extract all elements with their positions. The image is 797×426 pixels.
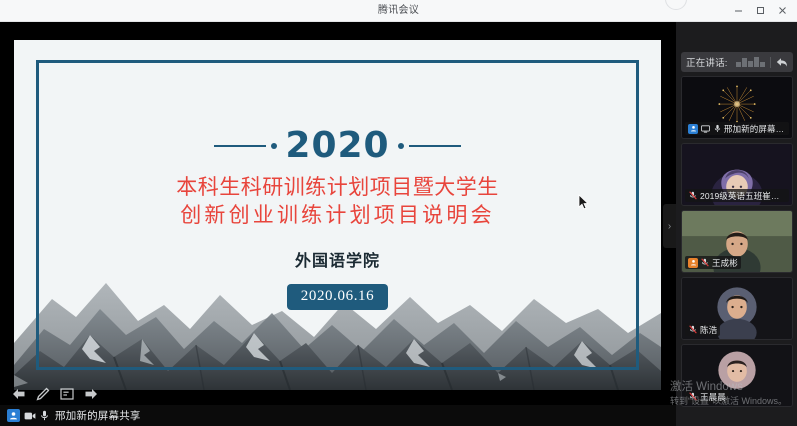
participant-tile[interactable]: 邢加新的屏幕共享	[681, 76, 793, 139]
collapse-panel-handle[interactable]: ›	[663, 204, 676, 248]
maximize-icon[interactable]	[749, 0, 771, 21]
participant-name-chip: 陈浩	[685, 323, 720, 336]
microphone-muted-icon	[700, 258, 710, 268]
participant-name: 邢加新的屏幕共享	[724, 123, 786, 135]
slide-text-content: 2020 本科生科研训练计划项目暨大学生 创新创业训练计划项目说明会 外国语学院…	[14, 40, 661, 310]
microphone-icon	[40, 410, 49, 421]
user-icon	[7, 409, 20, 422]
slide-title-line1: 本科生科研训练计划项目暨大学生	[14, 174, 661, 202]
back-arrow-icon[interactable]	[776, 57, 788, 68]
participant-tile[interactable]: 王成彬	[681, 210, 793, 273]
annotation-toolbar[interactable]	[10, 384, 100, 404]
screen-share-icon	[700, 124, 710, 134]
arrow-left-icon[interactable]	[10, 385, 28, 403]
participant-tile[interactable]: 2019级英语五班崔娜娜...	[681, 143, 793, 206]
window-controls	[727, 0, 793, 21]
participant-name-chip: 王成彬	[685, 256, 741, 269]
shared-screen-stage[interactable]: 2020 本科生科研训练计划项目暨大学生 创新创业训练计划项目说明会 外国语学院…	[0, 22, 676, 426]
microphone-icon	[712, 124, 722, 134]
close-icon[interactable]	[771, 0, 793, 21]
participant-tile[interactable]: 陈浩	[681, 277, 793, 340]
rail-divider	[770, 57, 771, 68]
slide-department: 外国语学院	[14, 247, 661, 271]
participant-tile[interactable]: 王晨晨	[681, 344, 793, 407]
participant-name: 2019级英语五班崔娜娜...	[700, 190, 786, 202]
participant-name: 王成彬	[712, 257, 738, 269]
year-rule-left	[214, 145, 266, 147]
participant-tiles: 邢加新的屏幕共享 2019级英语五班崔娜娜...	[681, 76, 793, 426]
slide-year: 2020	[285, 128, 389, 164]
presentation-slide: 2020 本科生科研训练计划项目暨大学生 创新创业训练计划项目说明会 外国语学院…	[14, 40, 661, 390]
arrow-right-icon[interactable]	[82, 385, 100, 403]
note-icon[interactable]	[58, 385, 76, 403]
user-icon	[688, 124, 698, 134]
slide-title-line2: 创新创业训练计划项目说明会	[14, 202, 661, 230]
participant-name: 王晨晨	[700, 391, 726, 403]
volume-bars-icon	[736, 57, 765, 67]
speaking-indicator-bar: 正在讲话:	[681, 52, 793, 72]
participant-name: 陈浩	[700, 324, 717, 336]
speaking-label: 正在讲话:	[686, 55, 736, 69]
participant-rail: 正在讲话:	[676, 22, 797, 426]
year-rule-right	[409, 145, 461, 147]
share-status-bar: 邢加新的屏幕共享	[0, 405, 676, 426]
tencent-meeting-window: 腾讯会议	[0, 0, 797, 426]
share-status-text: 邢加新的屏幕共享	[55, 408, 141, 423]
participant-name-chip: 2019级英语五班崔娜娜...	[685, 189, 789, 202]
participant-name-chip: 王晨晨	[685, 390, 729, 403]
title-bar: 腾讯会议	[0, 0, 797, 22]
microphone-muted-icon	[688, 325, 698, 335]
participant-name-chip: 邢加新的屏幕共享	[685, 122, 789, 135]
slide-title: 本科生科研训练计划项目暨大学生 创新创业训练计划项目说明会	[14, 174, 661, 230]
slide-year-row: 2020	[14, 128, 661, 164]
user-icon	[688, 258, 698, 268]
slide-date-badge: 2020.06.16	[287, 284, 389, 310]
microphone-muted-icon	[688, 392, 698, 402]
pencil-icon[interactable]	[34, 385, 52, 403]
camera-icon	[24, 411, 36, 421]
microphone-muted-icon	[688, 191, 698, 201]
mouse-cursor	[578, 194, 589, 210]
minimize-icon[interactable]	[727, 0, 749, 21]
